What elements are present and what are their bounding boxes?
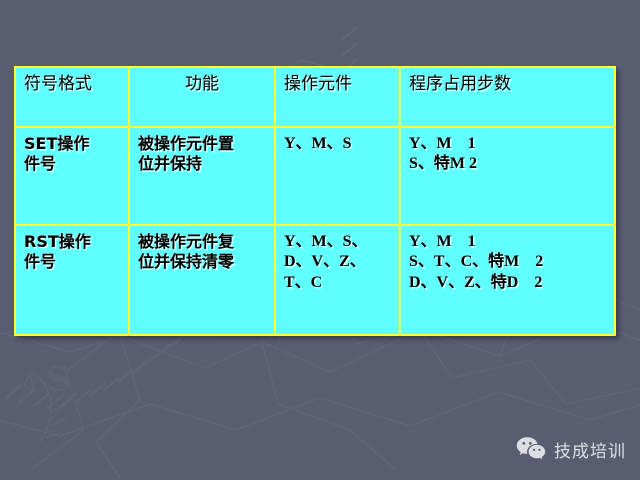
cell-text-line: 位并保持清零 <box>138 252 266 272</box>
watermark: 技成培训 <box>516 436 626 462</box>
cell-text-line: S、特M 2 <box>409 154 606 174</box>
cell-text-line: S、T、C、特M 2 <box>409 252 606 272</box>
cell-text-line: 件号 <box>24 154 120 174</box>
svg-text:S: S <box>45 359 74 401</box>
cell-function-rst: 被操作元件复 位并保持清零 <box>129 225 275 335</box>
cell-symbol-set: SET操作 件号 <box>15 127 129 225</box>
cell-operands-rst: Y、M、S、 D、V、Z、 T、C <box>275 225 400 335</box>
cell-text-line: Y、M 1 <box>409 232 606 252</box>
column-header-function: 功能 <box>129 67 275 127</box>
slide-canvas: S S 符号格式 功能 操作元件 程序占用步数 SET操作 件号 被操作元件置 <box>0 0 640 480</box>
table-header-row: 符号格式 功能 操作元件 程序占用步数 <box>15 67 615 127</box>
cell-function-set: 被操作元件置 位并保持 <box>129 127 275 225</box>
cell-symbol-rst: RST操作 件号 <box>15 225 129 335</box>
cell-text-line: 被操作元件复 <box>138 232 266 252</box>
watermark-label: 技成培训 <box>554 437 626 462</box>
table-row: SET操作 件号 被操作元件置 位并保持 Y、M、S Y、M 1 S、特M 2 <box>15 127 615 225</box>
cell-steps-rst: Y、M 1 S、T、C、特M 2 D、V、Z、特D 2 <box>400 225 615 335</box>
cell-steps-set: Y、M 1 S、特M 2 <box>400 127 615 225</box>
cell-text-line: Y、M 1 <box>409 134 606 154</box>
cell-operands-set: Y、M、S <box>275 127 400 225</box>
cell-text-line: RST操作 <box>24 232 120 252</box>
cell-text-line: T、C <box>284 273 391 293</box>
column-header-program-steps: 程序占用步数 <box>400 67 615 127</box>
column-header-symbol-format: 符号格式 <box>15 67 129 127</box>
table-row: RST操作 件号 被操作元件复 位并保持清零 Y、M、S、 D、V、Z、 T、C… <box>15 225 615 335</box>
cell-text-line: Y、M、S、 <box>284 232 391 252</box>
instruction-table: 符号格式 功能 操作元件 程序占用步数 SET操作 件号 被操作元件置 位并保持… <box>14 66 616 336</box>
cell-text-line: 被操作元件置 <box>138 134 266 154</box>
cell-text-line: D、V、Z、 <box>284 252 391 272</box>
wechat-icon <box>516 436 546 462</box>
column-header-operand: 操作元件 <box>275 67 400 127</box>
cell-text-line: 件号 <box>24 252 120 272</box>
cell-text-line: 位并保持 <box>138 154 266 174</box>
cell-text-line: Y、M、S <box>284 134 391 154</box>
cell-text-line: SET操作 <box>24 134 120 154</box>
cell-text-line: D、V、Z、特D 2 <box>409 273 606 293</box>
